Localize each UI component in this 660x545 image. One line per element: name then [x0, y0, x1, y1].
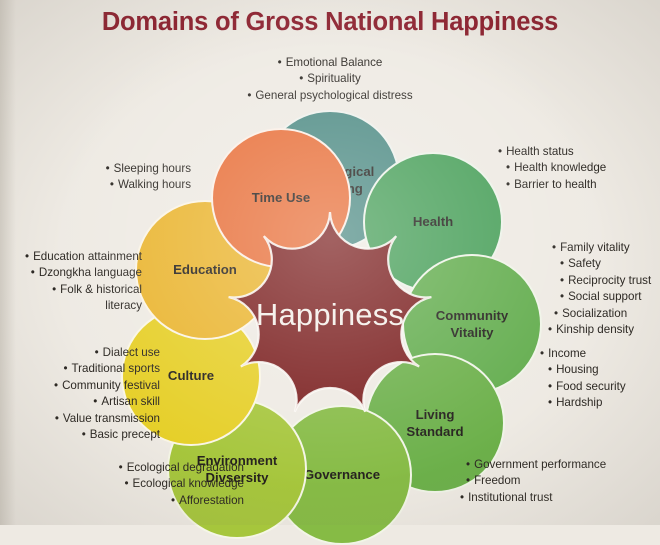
bullet: Afforestation — [0, 493, 244, 509]
bullet: Barrier to health — [506, 177, 606, 193]
bullet: Safety — [560, 256, 651, 272]
notes-community-vitality: Family vitality Safety Reciprocity trust… — [552, 240, 651, 339]
notes-health: Health status Health knowledge Barrier t… — [498, 144, 606, 193]
domain-label-line1: Governance — [294, 466, 390, 483]
notes-governance: Government performance Freedom Instituti… — [466, 457, 606, 506]
notes-psychological-well-being: Emotional Balance Spirituality General p… — [180, 55, 480, 104]
bullet: Ecological degradation — [0, 460, 244, 476]
bullet: Traditional sports — [0, 361, 160, 377]
bullet: Education attainment — [0, 249, 142, 265]
bullet: Walking hours — [0, 177, 191, 193]
bullet: Emotional Balance — [180, 55, 480, 71]
bullet: Spirituality — [180, 71, 480, 87]
bullet: Value transmission — [0, 411, 160, 427]
bullet: Dzongkha language — [0, 265, 142, 281]
bullet: Health status — [498, 144, 606, 160]
bullet: Basic precept — [0, 427, 160, 443]
bullet: Sleeping hours — [0, 161, 191, 177]
bullet: Social support — [560, 289, 651, 305]
bullet: Ecological knowledge — [0, 476, 244, 492]
notes-environment-divsersity: Ecological degradation Ecological knowle… — [0, 460, 244, 509]
bullet: Community festival — [0, 378, 160, 394]
bullet: Socialization — [554, 306, 651, 322]
bullet: Housing — [548, 362, 626, 378]
notes-time-use: Sleeping hours Walking hours — [0, 161, 191, 194]
bullet: Freedom — [466, 473, 606, 489]
bullet: Health knowledge — [506, 160, 606, 176]
bullet: Reciprocity trust — [560, 273, 651, 289]
bullet: Food security — [548, 379, 626, 395]
bullet: Folk & historical — [0, 282, 142, 298]
notes-living-standard: Income Housing Food security Hardship — [540, 346, 626, 412]
bullet: Income — [540, 346, 626, 362]
center-label: Happiness — [214, 199, 446, 431]
bullet: Government performance — [466, 457, 606, 473]
bullet-continuation: literacy — [0, 298, 142, 314]
happiness-core: Happiness — [214, 199, 446, 431]
page-title: Domains of Gross National Happiness — [0, 8, 660, 37]
bullet: Hardship — [548, 395, 626, 411]
bullet: Institutional trust — [460, 490, 606, 506]
bullet: Kinship density — [548, 322, 651, 338]
bullet: Dialect use — [0, 345, 160, 361]
bullet: Family vitality — [552, 240, 651, 256]
bullet: General psychological distress — [180, 88, 480, 104]
notes-education: Education attainment Dzongkha language F… — [0, 249, 142, 315]
notes-culture: Dialect use Traditional sports Community… — [0, 345, 160, 444]
bullet: Artisan skill — [0, 394, 160, 410]
